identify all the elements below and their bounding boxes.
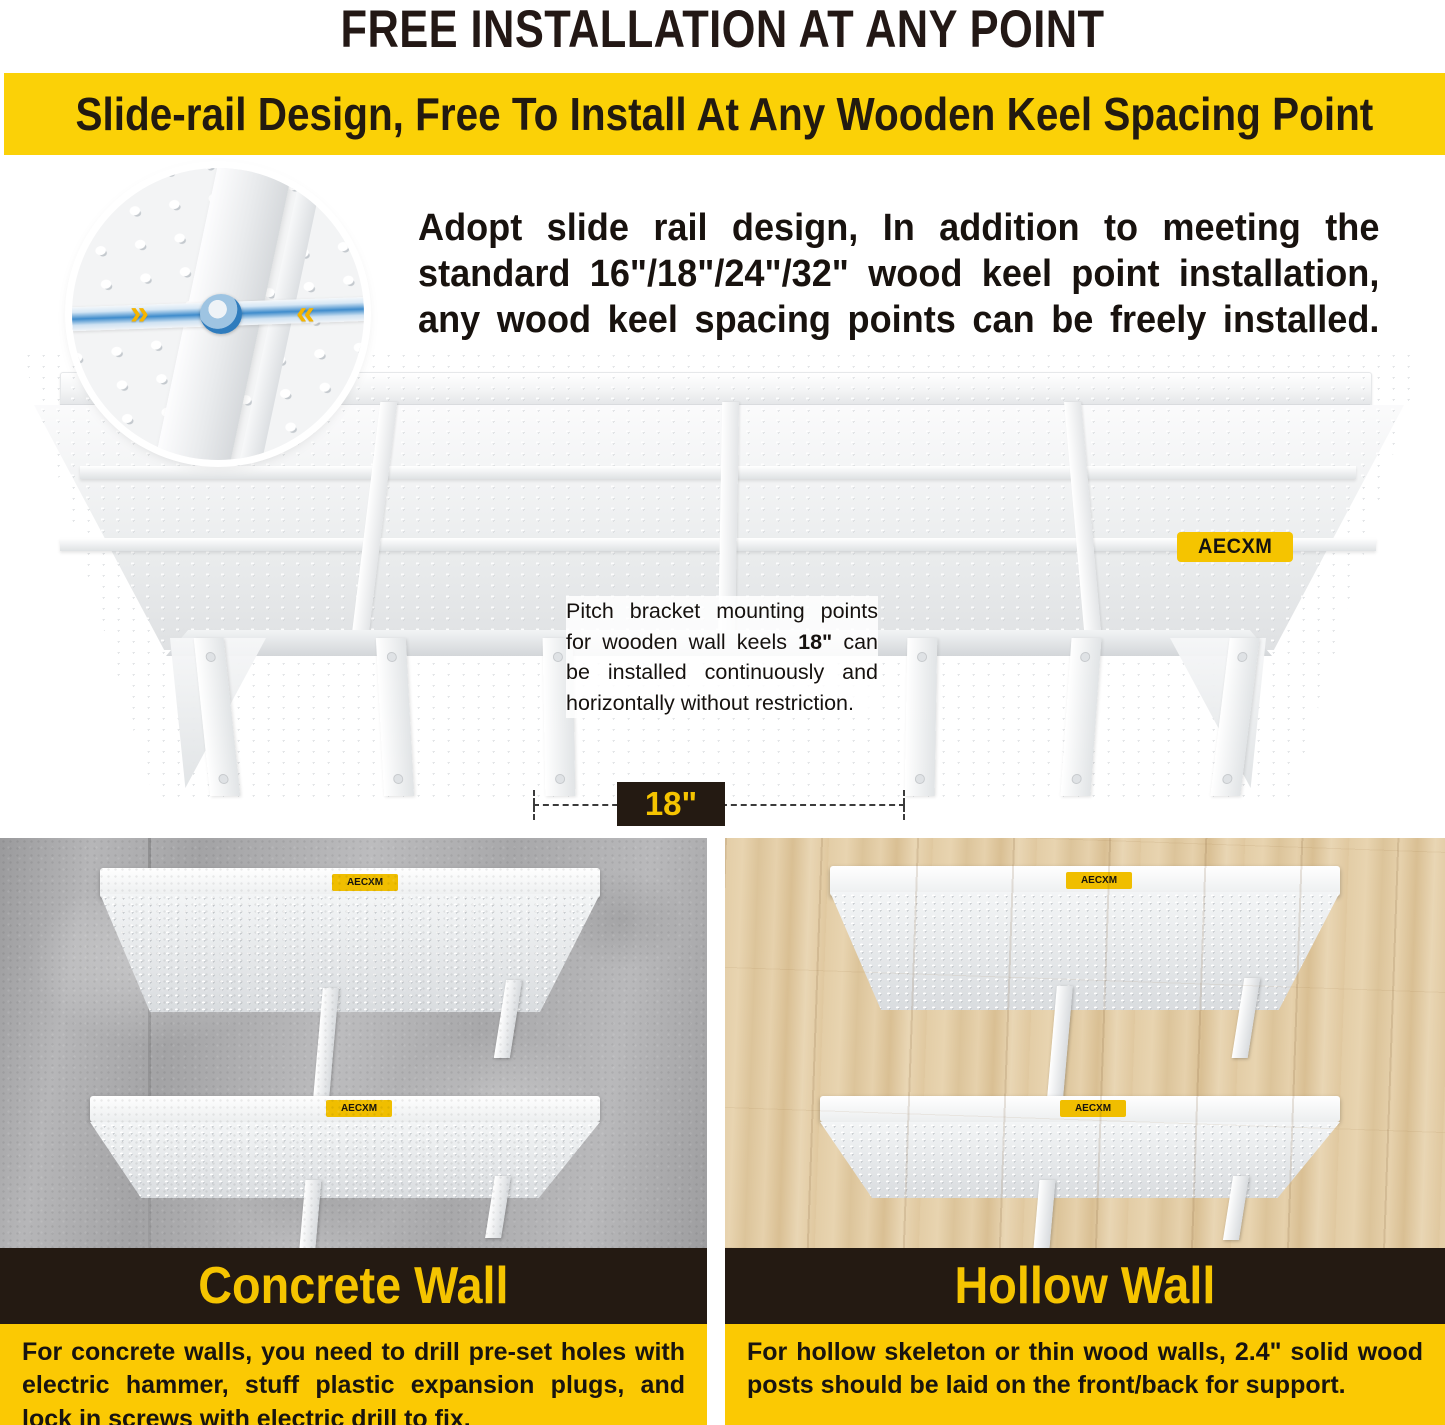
panel-caption-concrete: For concrete walls, you need to drill pr… (0, 1324, 707, 1425)
shelf-support-leg (1232, 978, 1261, 1058)
panel-hollow-wall: AECXM AECXM Hollow Wall For hollow skele… (725, 838, 1445, 1425)
shelf-deck-surface (820, 1122, 1340, 1198)
brand-badge: AECXM (1066, 872, 1132, 889)
magnifier-circle-icon: » « (72, 168, 364, 460)
brand-label: AECXM (347, 877, 383, 888)
shelf-support-leg (494, 980, 522, 1058)
panel-concrete-wall: AECXM AECXM Concrete Wall For concrete w… (0, 838, 707, 1425)
mounted-shelf-upper: AECXM (100, 868, 600, 1058)
concrete-seam (148, 838, 151, 1248)
shelf-support-leg (313, 988, 339, 1098)
panel-caption-hollow: For hollow skeleton or thin wood walls, … (725, 1324, 1445, 1425)
shelf-support-leg (1033, 1180, 1056, 1248)
shelf-mesh-texture (830, 892, 1340, 1010)
shelf-mesh-texture (90, 1122, 600, 1198)
shelf-deck-surface (100, 894, 600, 1012)
panel-title-hollow: Hollow Wall (955, 1256, 1216, 1316)
slide-arrow-right-icon: » (130, 296, 143, 330)
shelf-bracket (905, 638, 938, 796)
shelf-support-leg (1047, 986, 1073, 1098)
shelf-mesh-texture (100, 894, 600, 1012)
shelf-mesh-texture (820, 1122, 1340, 1198)
dimension-badge: 18" (617, 782, 725, 826)
panel-title-band-hollow: Hollow Wall (725, 1248, 1445, 1324)
product-illustration-stage: Adopt slide rail design, In addition to … (0, 158, 1445, 834)
hollow-wall-photo: AECXM AECXM (725, 838, 1445, 1248)
brand-label: AECXM (1198, 535, 1272, 559)
mounted-shelf-upper: AECXM (830, 866, 1340, 1056)
mounted-shelf-lower: AECXM (90, 1096, 600, 1248)
dimension-tick-left (533, 790, 535, 820)
mounted-shelf-lower: AECXM (820, 1096, 1340, 1248)
shelf-cross-beam (80, 466, 1356, 479)
pitch-bracket-note: Pitch bracket mounting points for wooden… (566, 596, 878, 718)
wall-type-panels: AECXM AECXM Concrete Wall For concrete w… (0, 838, 1445, 1425)
concrete-wall-photo: AECXM AECXM (0, 838, 707, 1248)
shelf-deck-surface (830, 892, 1340, 1010)
brand-badge: AECXM (1177, 532, 1293, 562)
panel-caption-text: For concrete walls, you need to drill pr… (22, 1336, 685, 1425)
shelf-top-edge (820, 1096, 1340, 1122)
lead-copy: Adopt slide rail design, In addition to … (418, 206, 1379, 344)
pitch-note-measure: 18" (798, 630, 832, 654)
subtitle-banner: Slide-rail Design, Free To Install At An… (4, 73, 1445, 155)
slide-arrow-left-icon: « (296, 296, 309, 330)
dimension-tick-right (903, 790, 905, 820)
shelf-deck-surface (90, 1122, 600, 1198)
brand-badge: AECXM (1060, 1100, 1126, 1117)
brand-label: AECXM (1081, 875, 1117, 886)
slide-rail-bolt-icon (200, 294, 242, 334)
page-title: FREE INSTALLATION AT ANY POINT (130, 0, 1315, 62)
brand-label: AECXM (341, 1103, 377, 1114)
panel-title-concrete: Concrete Wall (198, 1256, 508, 1316)
dimension-indicator: 18" (533, 782, 905, 826)
brand-badge: AECXM (326, 1100, 392, 1117)
shelf-support-leg (1223, 1176, 1249, 1240)
panel-caption-text: For hollow skeleton or thin wood walls, … (747, 1336, 1423, 1403)
shelf-support-leg (299, 1180, 322, 1248)
shelf-top-edge (90, 1096, 600, 1122)
subtitle-banner-text: Slide-rail Design, Free To Install At An… (76, 87, 1374, 141)
shelf-support-leg (485, 1176, 511, 1238)
brand-label: AECXM (1075, 1103, 1111, 1114)
dimension-badge-label: 18" (645, 785, 697, 823)
panel-title-band-concrete: Concrete Wall (0, 1248, 707, 1324)
shelf-top-edge (100, 868, 600, 898)
shelf-top-edge (830, 866, 1340, 896)
brand-badge: AECXM (332, 874, 398, 891)
